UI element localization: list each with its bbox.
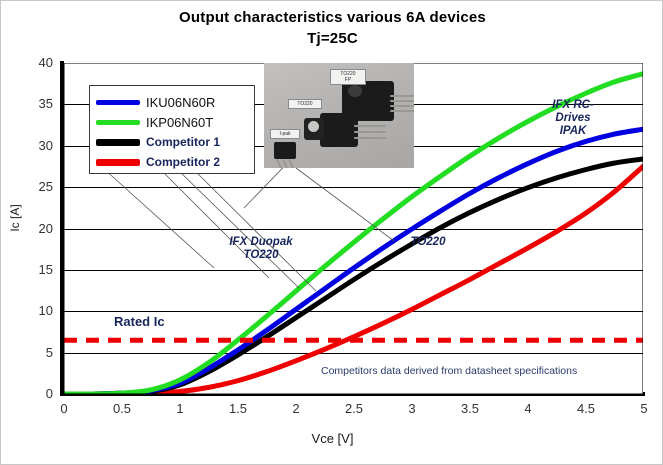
series-competitor-1: [64, 159, 643, 394]
chart-page: Output characteristics various 6A device…: [0, 0, 663, 465]
device-photo: TO220 FP TO220 I-pak: [264, 63, 414, 168]
legend-label-competitor-2: Competitor 2: [146, 155, 220, 169]
pin: [390, 95, 414, 97]
annotation-rated-ic: Rated Ic: [114, 314, 165, 329]
legend-item-ikp06n60t[interactable]: IKP06N60T: [90, 112, 254, 132]
annotation-footnote: Competitors data derived from datasheet …: [321, 365, 577, 377]
legend-item-iku06n60r[interactable]: IKU06N60R: [90, 92, 254, 112]
legend-label-competitor-1: Competitor 1: [146, 135, 220, 149]
pin: [390, 110, 414, 112]
y-tick-15: 15: [9, 264, 53, 276]
pin: [390, 105, 414, 107]
y-tick-25: 25: [9, 181, 53, 193]
chart-title-line-1: Output characteristics various 6A device…: [1, 7, 663, 28]
annotation-duopak-line-2: TO220: [191, 249, 331, 262]
legend-swatch-red: [96, 159, 140, 166]
x-tick-3p5: 3.5: [447, 403, 493, 415]
pin: [354, 137, 386, 139]
chart-title-block: Output characteristics various 6A device…: [1, 7, 663, 49]
pin: [354, 125, 386, 127]
legend-swatch-blue: [96, 100, 140, 105]
device-to220: [320, 113, 358, 147]
x-tick-2p5: 2.5: [331, 403, 377, 415]
annotation-ipak-line-1: IFX RC-: [523, 99, 623, 112]
y-tick-20: 20: [9, 223, 53, 235]
y-tick-30: 30: [9, 140, 53, 152]
legend-item-competitor-2[interactable]: Competitor 2: [90, 152, 254, 172]
photo-label-to220: TO220: [288, 99, 322, 109]
x-tick-1p5: 1.5: [215, 403, 261, 415]
x-tick-5: 5: [621, 403, 663, 415]
y-tick-10: 10: [9, 305, 53, 317]
legend-swatch-black: [96, 139, 140, 146]
photo-label-to220fp-l2: FP: [345, 77, 351, 83]
annotation-ipak: IFX RC- Drives IPAK: [523, 99, 623, 138]
photo-label-to220fp: TO220 FP: [330, 69, 366, 85]
legend-item-competitor-1[interactable]: Competitor 1: [90, 132, 254, 152]
chart-title-line-2: Tj=25C: [1, 28, 663, 49]
x-axis-title: Vce [V]: [1, 431, 663, 446]
x-tick-3: 3: [389, 403, 435, 415]
y-axis-title: Ic [A]: [8, 188, 22, 248]
device-ipak: [274, 142, 296, 159]
pin: [390, 100, 414, 102]
x-tick-4: 4: [505, 403, 551, 415]
device-to220fp-hole: [348, 85, 362, 97]
device-to220-hole: [308, 121, 319, 132]
annotation-duopak-line-1: IFX Duopak: [191, 236, 331, 249]
legend-swatch-green: [96, 120, 140, 125]
legend-label-iku06n60r: IKU06N60R: [146, 95, 215, 110]
annotation-ipak-line-3: IPAK: [523, 125, 623, 138]
y-tick-0: 0: [9, 388, 53, 400]
pin: [354, 131, 386, 133]
x-tick-2: 2: [273, 403, 319, 415]
y-tick-40: 40: [9, 57, 53, 69]
x-tick-0: 0: [41, 403, 87, 415]
legend[interactable]: IKU06N60R IKP06N60T Competitor 1 Competi…: [89, 85, 255, 174]
x-tick-1: 1: [157, 403, 203, 415]
y-tick-35: 35: [9, 98, 53, 110]
legend-label-ikp06n60t: IKP06N60T: [146, 115, 213, 130]
annotation-duopak: IFX Duopak TO220: [191, 236, 331, 262]
y-tick-5: 5: [9, 347, 53, 359]
x-tick-0p5: 0.5: [99, 403, 145, 415]
photo-label-ipak: I-pak: [270, 129, 300, 139]
x-tick-4p5: 4.5: [563, 403, 609, 415]
annotation-ipak-line-2: Drives: [523, 112, 623, 125]
annotation-to220: TO220: [393, 236, 463, 249]
